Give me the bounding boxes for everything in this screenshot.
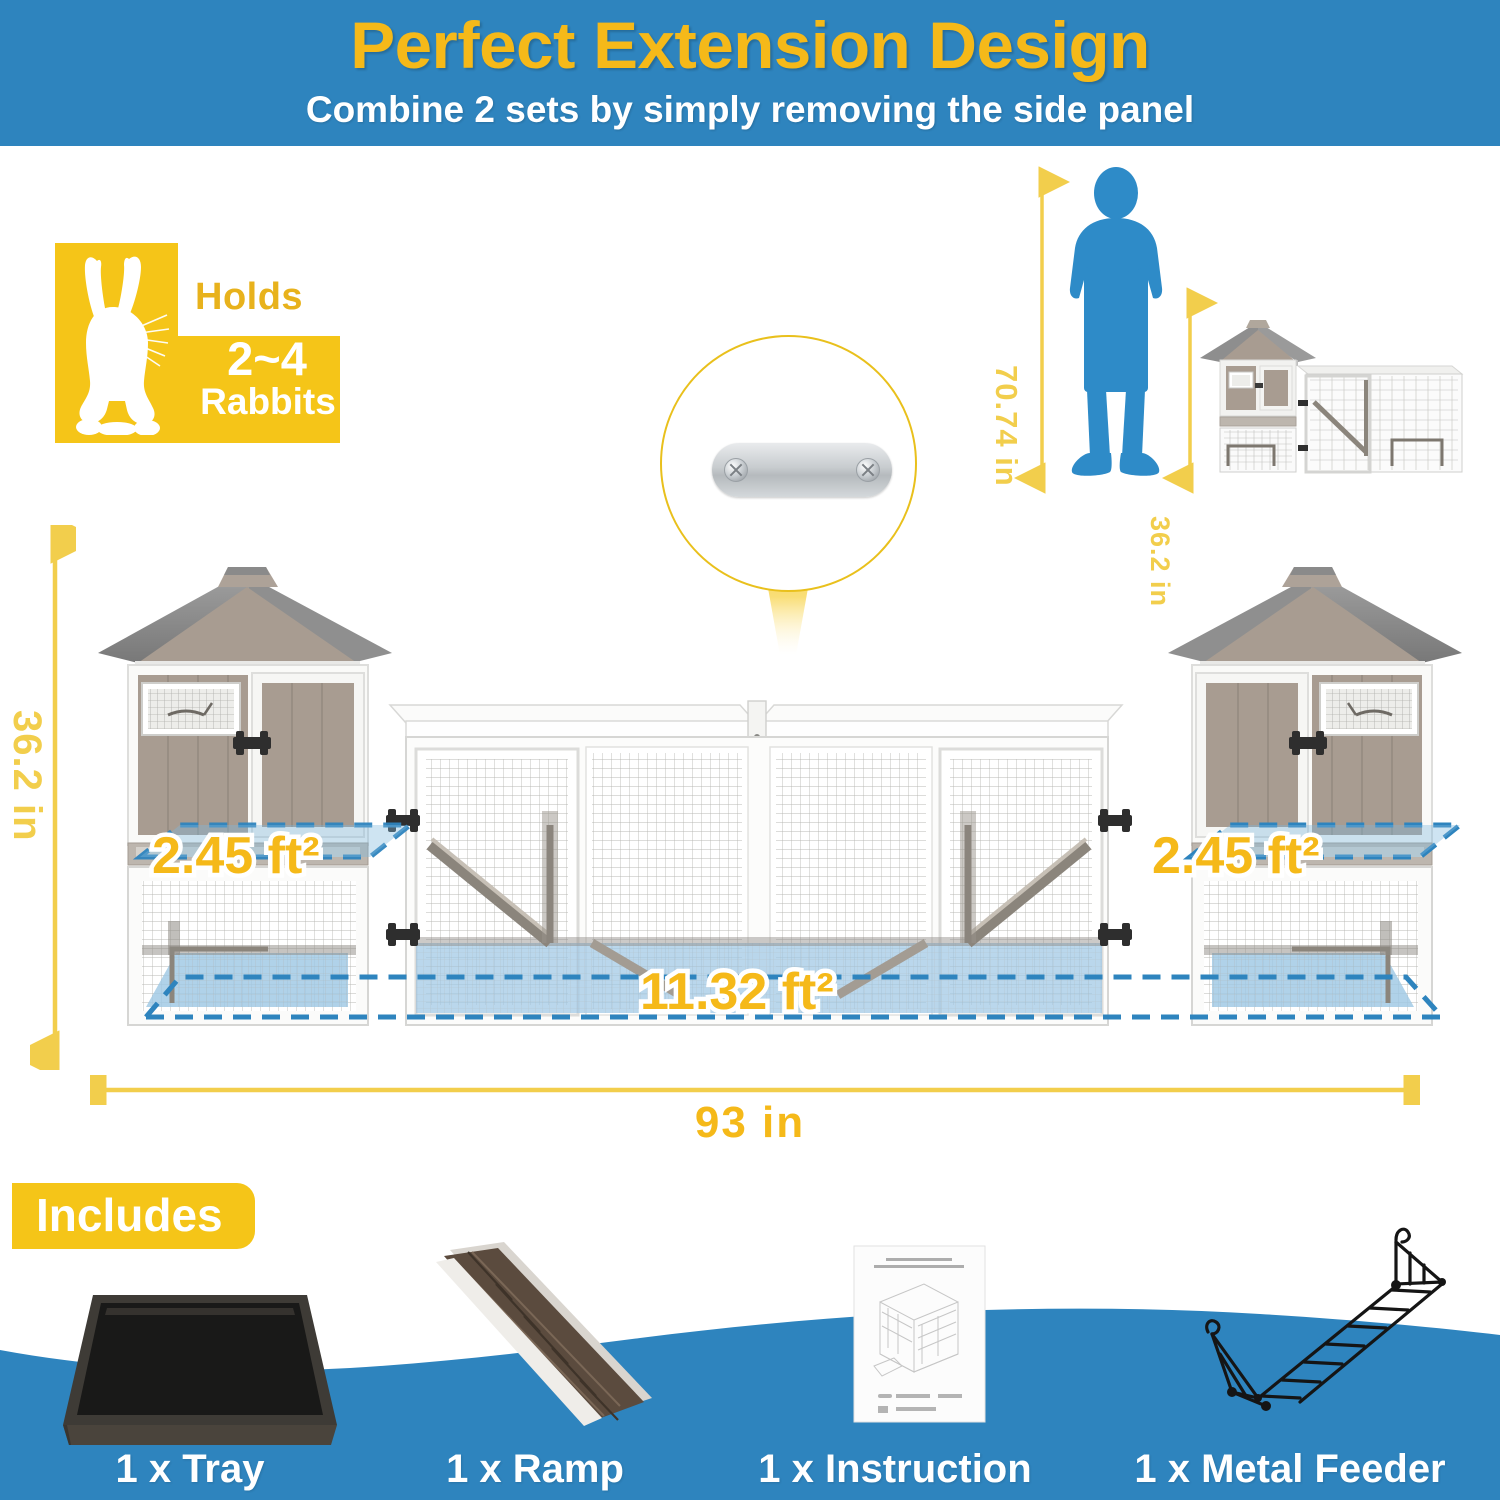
page-header: Perfect Extension Design Combine 2 sets … [0,0,1500,146]
upper-area-right-label: 2.45 ft² [1152,826,1320,886]
page-title: Perfect Extension Design [0,12,1500,78]
upper-area-left-label: 2.45 ft² [152,826,320,886]
size-comparison: 70.74 in 36.2 in [980,160,1480,500]
page-subtitle: Combine 2 sets by simply removing the si… [0,91,1500,128]
includes-item-caption: 1 x Tray [30,1447,350,1492]
screw-icon-left [724,458,748,482]
product-height-label: 36.2 in [4,710,49,842]
person-height-label: 70.74 in [988,365,1024,487]
tray-icon [55,1275,345,1455]
includes-badge: Includes [12,1183,255,1249]
instruction-manual-icon [852,1244,987,1424]
product-width-label: 93 in [0,1098,1500,1148]
includes-section: Includes [0,1180,1500,1500]
holds-label: Holds [195,276,303,319]
includes-item-caption: 1 x Ramp [375,1447,695,1492]
lower-area-label: 11.32 ft² [640,962,834,1022]
left-hutch [98,567,392,1025]
metal-feeder-icon [1190,1220,1480,1430]
capacity-count: 2~4 [192,335,342,382]
screw-icon-right [856,458,880,482]
right-hutch [1168,567,1462,1025]
rabbit-hutch-thumbnail [1180,280,1470,480]
ramp-icon [392,1240,662,1450]
capacity-badge: Holds 2~4 Rabbits [55,243,340,443]
includes-item-caption: 1 x Metal Feeder [1090,1447,1490,1492]
rabbit-icon [67,253,170,435]
connector-plate-icon [712,443,892,497]
capacity-unit: Rabbits [192,383,344,420]
person-silhouette-icon [1070,167,1162,476]
includes-item-caption: 1 x Instruction [730,1447,1060,1492]
